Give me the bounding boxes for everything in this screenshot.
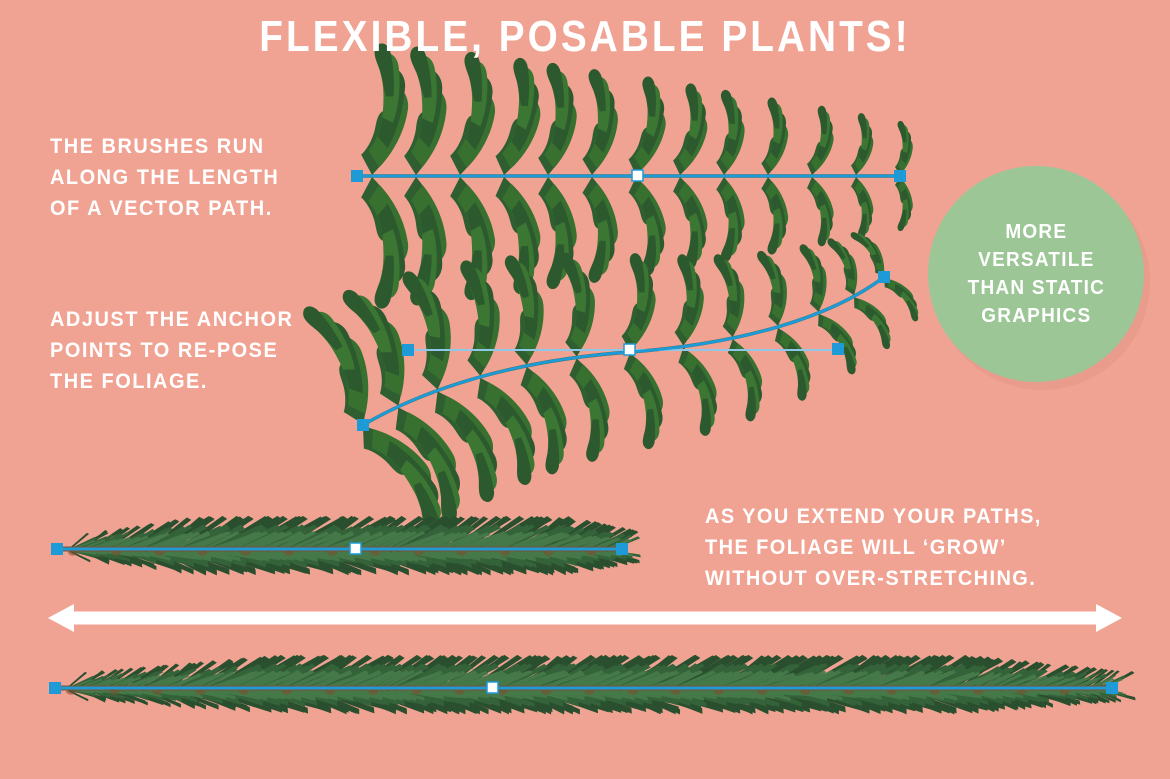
anchor-point-filled [616,543,628,555]
anchor-point-filled [1106,682,1118,694]
branch-fern-straight [319,40,926,311]
anchor-point-hollow [624,344,635,355]
caption-adjust-anchor-points: ADJUST THE ANCHOR POINTS TO RE-POSE THE … [50,304,293,397]
caption-brushes-run-along-path: THE BRUSHES RUN ALONG THE LENGTH OF A VE… [50,131,279,224]
anchor-point-filled [357,419,369,431]
vector-path-line-2 [363,277,884,425]
stretch-arrow [48,604,1122,632]
page-title: FLEXIBLE, POSABLE PLANTS! [70,14,1100,60]
branch-pine-long [49,654,1137,719]
arrow-head-left-icon [48,604,74,632]
arrow-head-right-icon [1096,604,1122,632]
anchor-point-filled [878,271,890,283]
poster-canvas: FLEXIBLE, POSABLE PLANTS! THE BRUSHES RU… [0,0,1170,779]
anchor-point-hollow [632,170,643,181]
anchor-point-filled [402,344,414,356]
anchor-point-hollow [350,543,361,554]
badge-label: MORE VERSATILE THAN STATIC GRAPHICS [967,218,1104,330]
branch-pine-short [51,515,641,580]
anchor-point-filled [351,170,363,182]
anchor-point-filled [894,170,906,182]
caption-extend-your-paths: AS YOU EXTEND YOUR PATHS, THE FOLIAGE WI… [705,501,1042,594]
anchor-point-filled [51,543,63,555]
anchor-point-hollow [487,682,498,693]
anchor-point-filled [832,343,844,355]
anchor-point-filled [49,682,61,694]
badge-more-versatile: MORE VERSATILE THAN STATIC GRAPHICS [928,166,1144,382]
branch-fern-curved [269,231,919,537]
